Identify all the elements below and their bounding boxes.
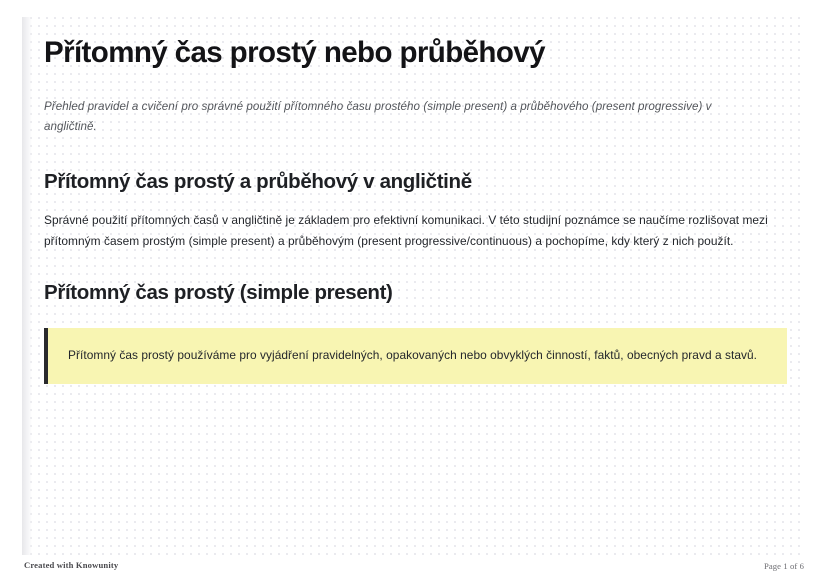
section-paragraph-overview: Správné použití přítomných časů v anglič… — [44, 194, 793, 252]
page-footer: Created with Knowunity Page 1 of 6 — [0, 560, 828, 586]
page-title: Přítomný čas prostý nebo průběhový — [44, 17, 788, 71]
highlight-callout-box: Přítomný čas prostý používáme pro vyjádř… — [44, 328, 787, 384]
section-heading-simple-present: Přítomný čas prostý (simple present) — [44, 252, 788, 306]
document-page: Přítomný čas prostý nebo průběhový Přehl… — [0, 0, 828, 586]
page-spine-shadow — [22, 17, 32, 555]
section-heading-overview: Přítomný čas prostý a průběhový v anglič… — [44, 137, 788, 195]
document-subtitle: Přehled pravidel a cvičení pro správné p… — [44, 71, 744, 137]
document-content: Přítomný čas prostý nebo průběhový Přehl… — [44, 17, 788, 384]
footer-credit: Created with Knowunity — [24, 560, 118, 570]
footer-page-indicator: Page 1 of 6 — [764, 561, 804, 571]
highlight-callout-text: Přítomný čas prostý používáme pro vyjádř… — [68, 345, 767, 366]
